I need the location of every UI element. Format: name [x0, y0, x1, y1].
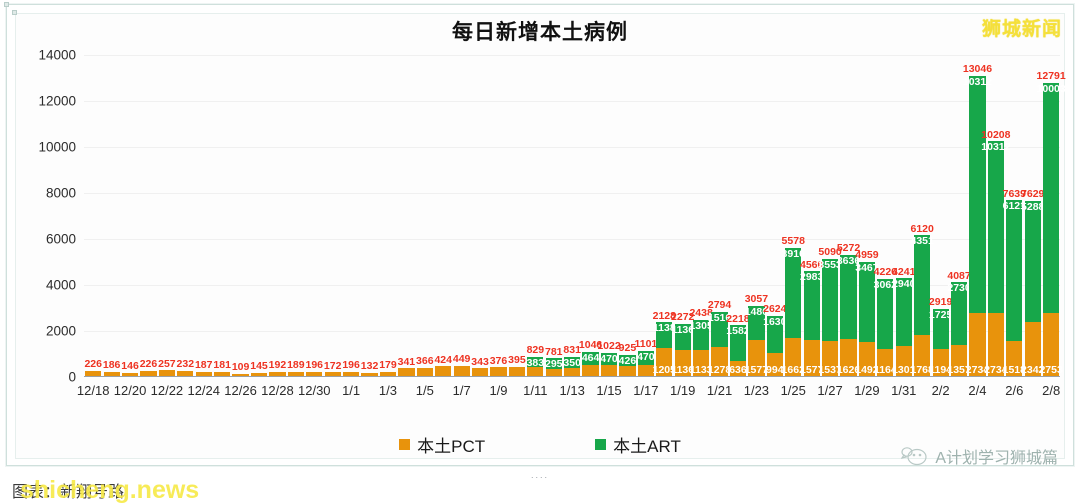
bar-art-value-label: 1630: [763, 317, 786, 328]
bar-column[interactable]: 22181582636: [729, 55, 747, 376]
bar-pct-value-label: 1278: [708, 365, 731, 376]
pagination-dots: ....: [531, 470, 549, 480]
bar-segment-pct[interactable]: 1768: [914, 335, 930, 376]
bar-column[interactable]: 196: [342, 55, 360, 376]
bar-column[interactable]: 179: [379, 55, 397, 376]
bar-column[interactable]: 226: [84, 55, 102, 376]
bar-segment-pct[interactable]: 196: [343, 372, 359, 377]
bar-segment-art[interactable]: 55783916: [785, 248, 801, 338]
bar-segment-pct[interactable]: 2734: [988, 313, 1004, 376]
x-axis-slot: 12/30: [305, 381, 323, 403]
bar-column[interactable]: 186: [102, 55, 120, 376]
bar-total-label: 189: [287, 360, 305, 371]
x-axis-slot: 1/3: [379, 381, 397, 403]
bar-segment-pct[interactable]: 1537: [822, 341, 838, 376]
x-axis-tick-label: 1/3: [379, 383, 397, 398]
watermark-bottom-left: shicheng.news: [20, 476, 199, 504]
x-axis-slot: 2/2: [931, 381, 949, 403]
bar-segment-pct[interactable]: 2734: [969, 313, 985, 376]
bar-segment-pct[interactable]: 636: [730, 361, 746, 376]
bar-segment-art[interactable]: 42412940: [896, 278, 912, 346]
bar-column[interactable]: 1046464: [581, 55, 599, 376]
bar-column[interactable]: 343: [471, 55, 489, 376]
bar-segment-pct[interactable]: 1133: [693, 350, 709, 376]
bar-total-label: 2919: [929, 297, 952, 308]
bar-column[interactable]: 424129401301: [895, 55, 913, 376]
bar-segment-art[interactable]: 40872730: [951, 282, 967, 345]
bar-segment-pct[interactable]: 1518: [1006, 341, 1022, 376]
legend-swatch-art: [595, 439, 606, 450]
plot-area: 2261861462262572321871811091451921891961…: [84, 55, 1060, 377]
x-axis-tick-label: 2/6: [1005, 383, 1023, 398]
bar-column[interactable]: 243813051133: [692, 55, 710, 376]
x-axis-slot: 1/7: [452, 381, 470, 403]
bar-column[interactable]: 109: [231, 55, 249, 376]
bar-art-value-label: 350: [563, 358, 581, 369]
bar-segment-art[interactable]: 27941516: [711, 312, 727, 347]
bar-segment-pct[interactable]: 2753: [1043, 313, 1059, 376]
bar-segment-pct[interactable]: 226: [140, 371, 156, 376]
plot-wrapper: 02000400060008000100001200014000 2261861…: [0, 55, 1080, 395]
bar-column[interactable]: 132: [360, 55, 378, 376]
brand-footer: A计划学习狮城篇: [901, 444, 1058, 468]
bar-segment-pct[interactable]: [619, 366, 635, 376]
x-axis-slot: 1/25: [784, 381, 802, 403]
bar-segment-pct[interactable]: 1278: [711, 347, 727, 376]
x-axis-slot: 12/24: [195, 381, 213, 403]
bar-segment-pct[interactable]: 1577: [748, 340, 764, 376]
bar-segment-art[interactable]: 45602983: [804, 271, 820, 340]
bar-column[interactable]: 762952882342: [1024, 55, 1042, 376]
bar-segment-art[interactable]: 22721136: [675, 324, 691, 350]
bar-segment-art[interactable]: 49593467: [859, 262, 875, 342]
bar-total-label: 172: [324, 361, 342, 372]
bar-column[interactable]: 291917251194: [931, 55, 949, 376]
bar-segment-pct[interactable]: 1626: [840, 339, 856, 376]
bar-art-value-label: 1582: [726, 326, 749, 337]
bar-pct-value-label: 2753: [1039, 365, 1062, 376]
y-axis-tick: 6000: [14, 232, 76, 247]
x-axis-slot: 12/26: [231, 381, 249, 403]
bar-segment-art[interactable]: 30571480: [748, 306, 764, 340]
x-axis-slot: 1/11: [526, 381, 544, 403]
x-axis-slot: [913, 381, 931, 403]
bar-segment-pct[interactable]: 341: [398, 368, 414, 376]
bar-segment-pct[interactable]: 395: [509, 367, 525, 376]
legend-swatch-pct: [399, 439, 410, 450]
bar-column[interactable]: 172: [323, 55, 341, 376]
bar-total-label: 395: [508, 355, 526, 366]
y-axis-tick: 14000: [14, 48, 76, 63]
x-axis: 12/1812/2012/2212/2412/2612/2812/301/11/…: [84, 381, 1060, 403]
watermark-top-right: 狮城新闻: [982, 14, 1062, 41]
bar-segment-pct[interactable]: 1194: [933, 349, 949, 376]
bar-segment-art[interactable]: 1279110003: [1043, 83, 1059, 313]
x-axis-slot: [323, 381, 341, 403]
x-axis-slot: [1024, 381, 1042, 403]
bar-segment-pct[interactable]: 994: [767, 353, 783, 376]
bar-total-label: 449: [453, 354, 471, 365]
bar-total-label: 257: [158, 359, 176, 370]
bar-segment-art[interactable]: 831350: [564, 357, 580, 368]
bar-segment-pct[interactable]: 1492: [859, 342, 875, 376]
x-axis-tick-label: 1/1: [342, 383, 360, 398]
bar-column[interactable]: 145: [250, 55, 268, 376]
bar-segment-pct[interactable]: 179: [380, 372, 396, 376]
bar-total-label: 5578: [782, 236, 805, 247]
x-axis-slot: 1/21: [710, 381, 728, 403]
bar-column[interactable]: 196: [305, 55, 323, 376]
bar-segment-pct[interactable]: 1662: [785, 338, 801, 376]
bar-segment-pct[interactable]: 146: [122, 373, 138, 376]
bar-total-label: 12791: [1037, 71, 1066, 82]
bottom-strip: .... 图表：新翔号路 shicheng.news: [0, 468, 1080, 504]
x-axis-slot: [397, 381, 415, 403]
x-axis-slot: 12/28: [268, 381, 286, 403]
bar-segment-art[interactable]: 42263062: [877, 279, 893, 349]
bar-art-value-label: 295: [545, 359, 563, 370]
bar-series-group: 2261861462262572321871811091451921891961…: [84, 55, 1060, 376]
bar-art-value-label: 10003: [1037, 84, 1066, 95]
x-axis-slot: 1/19: [674, 381, 692, 403]
bar-total-label: 179: [379, 360, 397, 371]
bar-column[interactable]: 829383: [526, 55, 544, 376]
bar-segment-pct[interactable]: 145: [251, 373, 267, 376]
bar-column[interactable]: 456029831577: [802, 55, 820, 376]
x-axis-tick-label: 2/2: [932, 383, 950, 398]
bar-total-label: 6120: [911, 224, 934, 235]
x-axis-slot: 1/31: [895, 381, 913, 403]
x-axis-slot: 1/27: [821, 381, 839, 403]
bar-segment-pct[interactable]: 376: [490, 367, 506, 376]
bar-column[interactable]: 376: [489, 55, 507, 376]
bar-total-label: 186: [103, 360, 121, 371]
bar-total-label: 4241: [892, 267, 915, 278]
x-axis-tick-label: 2/4: [968, 383, 986, 398]
bar-column[interactable]: 26241630994: [766, 55, 784, 376]
bar-art-value-label: 464: [582, 353, 600, 364]
bar-total-label: 145: [250, 361, 268, 372]
screenshot-root: 每日新增本土病例 狮城新闻 02000400060008000100001200…: [0, 0, 1080, 504]
bar-segment-art[interactable]: 24381305: [693, 320, 709, 350]
bar-segment-pct[interactable]: [546, 369, 562, 376]
x-axis-slot: [434, 381, 452, 403]
x-axis-slot: 1/17: [637, 381, 655, 403]
y-axis-tick: 10000: [14, 140, 76, 155]
x-axis-slot: 1/5: [416, 381, 434, 403]
bar-segment-pct[interactable]: 1577: [804, 340, 820, 376]
bar-total-label: 829: [527, 345, 545, 356]
bar-segment-art[interactable]: 1020810312: [988, 141, 1004, 313]
bar-segment-art[interactable]: 1046464: [582, 352, 598, 365]
bar-art-value-label: 2730: [947, 283, 970, 294]
bar-segment-art[interactable]: 76295288: [1025, 201, 1041, 323]
bar-total-label: 376: [490, 356, 508, 367]
bar-pct-value-label: 1577: [745, 365, 768, 376]
x-axis-tick-label: 1/9: [489, 383, 507, 398]
bar-art-value-label: 426: [619, 356, 637, 367]
bar-segment-art[interactable]: 22181582: [730, 325, 746, 361]
bar-segment-art[interactable]: 829383: [527, 357, 543, 367]
bar-column[interactable]: 408727301357: [950, 55, 968, 376]
bar-column[interactable]: 449: [452, 55, 470, 376]
bar-segment-art[interactable]: 61204351: [914, 235, 930, 335]
bar-segment-pct[interactable]: 424: [435, 366, 451, 376]
bar-total-label: 343: [471, 357, 489, 368]
bar-art-value-label: 470: [637, 352, 655, 363]
resize-handle-top-left[interactable]: [4, 2, 9, 7]
legend-item-pct[interactable]: 本土PCT: [399, 432, 485, 457]
brand-label: A计划学习狮城篇: [935, 444, 1058, 468]
bar-art-value-label: 5288: [1021, 202, 1044, 213]
bar-segment-art[interactable]: 29191725: [933, 309, 949, 349]
x-axis-slot: 1/9: [489, 381, 507, 403]
bar-segment-pct[interactable]: 192: [269, 372, 285, 376]
x-axis-slot: [950, 381, 968, 403]
bar-total-label: 1022: [597, 341, 620, 352]
x-axis-slot: 12/20: [121, 381, 139, 403]
x-axis-slot: 2/6: [1005, 381, 1023, 403]
bar-segment-pct[interactable]: 187: [196, 372, 212, 376]
y-axis: 02000400060008000100001200014000: [14, 55, 76, 377]
bar-segment-art[interactable]: 50903553: [822, 259, 838, 341]
bar-column[interactable]: 232: [176, 55, 194, 376]
x-axis-tick-label: 1/5: [416, 383, 434, 398]
bar-segment-pct[interactable]: 172: [325, 372, 341, 376]
bar-total-label: 4087: [947, 271, 970, 282]
bar-segment-art[interactable]: 1304610312: [969, 76, 985, 313]
y-axis-tick: 0: [14, 370, 76, 385]
bar-segment-pct[interactable]: 226: [85, 371, 101, 376]
bar-segment-pct[interactable]: [638, 365, 654, 376]
bar-total-label: 232: [177, 359, 195, 370]
bar-segment-pct[interactable]: 1136: [675, 350, 691, 376]
bar-column[interactable]: 10208103122734: [987, 55, 1005, 376]
bar-column[interactable]: 925426: [618, 55, 636, 376]
bar-segment-pct[interactable]: 449: [454, 366, 470, 376]
bar-segment-art[interactable]: 1101470: [638, 351, 654, 366]
bar-total-label: 132: [361, 361, 379, 372]
bar-segment-art[interactable]: 925426: [619, 355, 635, 366]
bar-column[interactable]: 146: [121, 55, 139, 376]
bar-total-label: 226: [84, 359, 102, 370]
bar-total-label: 424: [434, 355, 452, 366]
bar-total-label: 181: [213, 360, 231, 371]
resize-handle-inner-top-left[interactable]: [12, 10, 17, 15]
legend-item-art[interactable]: 本土ART: [595, 432, 681, 457]
x-axis-slot: 1/13: [563, 381, 581, 403]
bar-column[interactable]: 781295: [545, 55, 563, 376]
bar-column[interactable]: 192: [268, 55, 286, 376]
bar-segment-pct[interactable]: 1164: [877, 349, 893, 376]
x-axis-slot: 2/8: [1042, 381, 1060, 403]
bar-art-value-label: 3916: [782, 249, 805, 260]
bar-total-label: 146: [121, 361, 139, 372]
bar-column[interactable]: 1022470: [600, 55, 618, 376]
bar-segment-pct[interactable]: 257: [159, 370, 175, 376]
bar-column[interactable]: 181: [213, 55, 231, 376]
x-axis-slot: 12/22: [158, 381, 176, 403]
bar-column[interactable]: 13046103122734: [968, 55, 986, 376]
chart-title: 每日新增本土病例: [0, 16, 1080, 46]
bar-segment-pct[interactable]: 181: [214, 372, 230, 376]
bar-art-value-label: 2940: [892, 279, 915, 290]
bar-total-label: 226: [140, 359, 158, 370]
bar-column[interactable]: 226: [139, 55, 157, 376]
legend-label-art: 本土ART: [613, 432, 681, 457]
bar-segment-art[interactable]: 52723636: [840, 255, 856, 339]
x-axis-tick-label: 1/7: [453, 383, 471, 398]
bar-total-label: 2794: [708, 300, 731, 311]
y-axis-tick: 4000: [14, 278, 76, 293]
bar-segment-pct[interactable]: 1357: [951, 345, 967, 376]
bar-column[interactable]: 12791100032753: [1042, 55, 1060, 376]
bar-segment-pct[interactable]: [601, 365, 617, 376]
bar-column[interactable]: 395: [508, 55, 526, 376]
bar-art-value-label: 2983: [800, 272, 823, 283]
bar-total-label: 192: [269, 360, 287, 371]
y-axis-tick: 8000: [14, 186, 76, 201]
bar-total-label: 341: [398, 357, 416, 368]
bar-total-label: 1101: [634, 339, 657, 350]
bar-art-value-label: 4351: [911, 236, 934, 247]
x-axis-slot: 1/15: [600, 381, 618, 403]
bar-column[interactable]: 341: [397, 55, 415, 376]
bar-art-value-label: 470: [600, 354, 618, 365]
bar-segment-art[interactable]: 26241630: [767, 316, 783, 353]
x-axis-slot: [360, 381, 378, 403]
bar-total-label: 196: [342, 360, 360, 371]
bar-segment-pct[interactable]: 1205: [656, 348, 672, 376]
bar-segment-art[interactable]: 76396121: [1006, 200, 1022, 341]
legend-label-pct: 本土PCT: [417, 432, 485, 457]
bar-total-label: 4959: [855, 250, 878, 261]
bar-segment-pct[interactable]: [564, 368, 580, 376]
bar-total-label: 366: [416, 356, 434, 367]
x-axis-slot: [987, 381, 1005, 403]
bar-total-label: 187: [195, 360, 213, 371]
bar-segment-art[interactable]: 21281138: [656, 322, 672, 348]
bar-art-value-label: 1725: [929, 310, 952, 321]
bar-column[interactable]: 612043511768: [913, 55, 931, 376]
x-axis-slot: 1/29: [858, 381, 876, 403]
bar-total-label: 109: [232, 362, 250, 373]
bar-segment-pct[interactable]: 196: [306, 372, 322, 377]
bar-column[interactable]: 495934671492: [858, 55, 876, 376]
x-axis-slot: 2/4: [968, 381, 986, 403]
bar-column[interactable]: 422630621164: [876, 55, 894, 376]
bar-column[interactable]: 257: [158, 55, 176, 376]
bar-column[interactable]: 509035531537: [821, 55, 839, 376]
bar-segment-pct[interactable]: 366: [417, 368, 433, 376]
y-axis-tick: 2000: [14, 324, 76, 339]
bar-column[interactable]: 527236361626: [839, 55, 857, 376]
bar-column[interactable]: 366: [416, 55, 434, 376]
bar-segment-pct[interactable]: 109: [232, 374, 248, 377]
bar-segment-pct[interactable]: [582, 365, 598, 376]
bar-total-label: 2624: [763, 304, 786, 315]
x-axis-slot: 12/18: [84, 381, 102, 403]
bar-segment-pct[interactable]: 132: [361, 373, 377, 376]
x-axis-slot: [471, 381, 489, 403]
bar-column[interactable]: 305714801577: [747, 55, 765, 376]
bar-segment-pct[interactable]: 232: [177, 371, 193, 376]
bar-segment-pct[interactable]: 186: [104, 372, 120, 376]
y-axis-tick: 12000: [14, 94, 76, 109]
bar-column[interactable]: 187: [195, 55, 213, 376]
bar-column[interactable]: 557839161662: [784, 55, 802, 376]
x-axis-slot: 1/1: [342, 381, 360, 403]
bar-segment-pct[interactable]: [527, 367, 543, 376]
bar-column[interactable]: 831350: [563, 55, 581, 376]
bar-segment-pct[interactable]: 2342: [1025, 322, 1041, 376]
bar-total-label: 196: [306, 360, 324, 371]
bar-segment-pct[interactable]: 343: [472, 368, 488, 376]
bar-column[interactable]: 763961211518: [1005, 55, 1023, 376]
bar-total-label: 7629: [1021, 189, 1044, 200]
bar-total-label: 781: [545, 347, 563, 358]
chat-face-icon: [901, 446, 927, 466]
x-axis-slot: 1/23: [747, 381, 765, 403]
bar-column[interactable]: 189: [287, 55, 305, 376]
bar-segment-art[interactable]: 781295: [546, 358, 562, 369]
bar-column[interactable]: 424: [434, 55, 452, 376]
x-axis-tick-label: 2/8: [1042, 383, 1060, 398]
bar-segment-pct[interactable]: 1301: [896, 346, 912, 376]
bar-segment-pct[interactable]: 189: [288, 372, 304, 376]
bar-segment-art[interactable]: 1022470: [601, 353, 617, 366]
